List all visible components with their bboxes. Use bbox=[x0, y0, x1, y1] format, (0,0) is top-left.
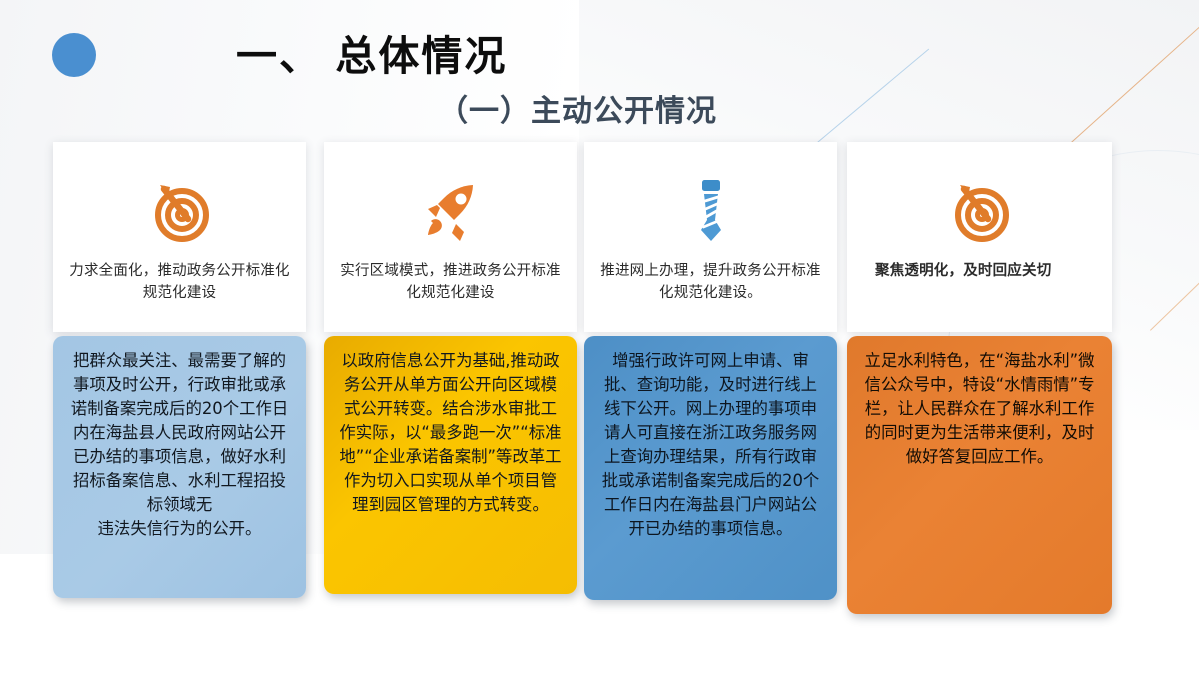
card-body-text: 把群众最关注、最需要了解的事项及时公开，行政审批或承诺制备案完成后的20个工作日… bbox=[53, 336, 306, 598]
card-header: 力求全面化，推动政务公开标准化规范化建设 bbox=[53, 142, 306, 332]
card-body-text: 立足水利特色，在“海盐水利”微信公众号中，特设“水情雨情”专栏，让人民群众在了解… bbox=[847, 336, 1112, 614]
card-grid: 力求全面化，推动政务公开标准化规范化建设 把群众最关注、最需要了解的事项及时公开… bbox=[0, 0, 1199, 674]
info-card[interactable]: 推进网上办理，提升政务公开标准化规范化建设。 增强行政许可网上申请、审批、查询功… bbox=[584, 142, 837, 600]
card-heading: 力求全面化，推动政务公开标准化规范化建设 bbox=[67, 260, 292, 305]
target-icon bbox=[144, 168, 216, 254]
card-heading: 聚焦透明化，及时回应关切 bbox=[861, 260, 1098, 282]
slide-canvas: 一、 总体情况 （一）主动公开情况 力求全面化，推动政务 bbox=[0, 0, 1199, 674]
card-heading: 推进网上办理，提升政务公开标准化规范化建设。 bbox=[598, 260, 823, 305]
info-card[interactable]: 聚焦透明化，及时回应关切 立足水利特色，在“海盐水利”微信公众号中，特设“水情雨… bbox=[847, 142, 1112, 614]
card-header: 实行区域模式，推进政务公开标准化规范化建设 bbox=[324, 142, 577, 332]
card-heading: 实行区域模式，推进政务公开标准化规范化建设 bbox=[338, 260, 563, 305]
card-body-text: 以政府信息公开为基础,推动政务公开从单方面公开向区域模式公开转变。结合涉水审批工… bbox=[324, 336, 577, 594]
target-icon bbox=[944, 168, 1016, 254]
rocket-icon bbox=[415, 168, 487, 254]
card-body-text: 增强行政许可网上申请、审批、查询功能，及时进行线上线下公开。网上办理的事项申请人… bbox=[584, 336, 837, 600]
info-card[interactable]: 实行区域模式，推进政务公开标准化规范化建设 以政府信息公开为基础,推动政务公开从… bbox=[324, 142, 577, 594]
necktie-icon bbox=[675, 168, 747, 254]
card-header: 聚焦透明化，及时回应关切 bbox=[847, 142, 1112, 332]
card-header: 推进网上办理，提升政务公开标准化规范化建设。 bbox=[584, 142, 837, 332]
info-card[interactable]: 力求全面化，推动政务公开标准化规范化建设 把群众最关注、最需要了解的事项及时公开… bbox=[53, 142, 306, 598]
